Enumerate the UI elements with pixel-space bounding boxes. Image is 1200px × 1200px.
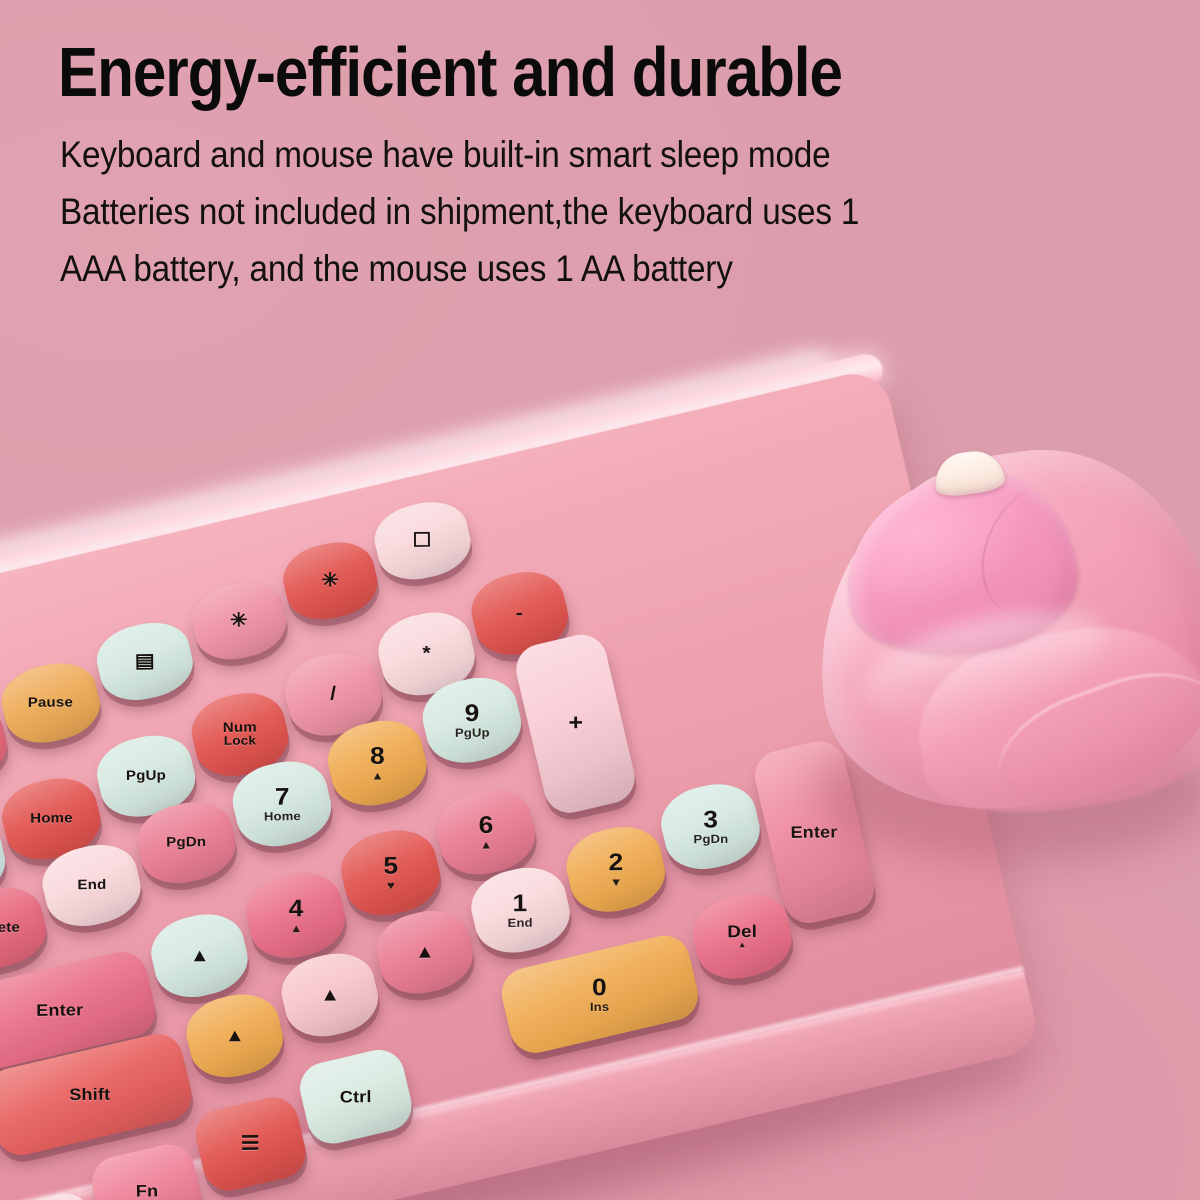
key-label: 8▴ bbox=[370, 744, 385, 782]
key-glyph-icon: ☐ bbox=[413, 531, 432, 551]
key-label: Pause bbox=[28, 696, 73, 711]
key-label: 4▴ bbox=[288, 897, 303, 935]
key-label: End bbox=[77, 878, 106, 892]
key-glyph-icon: ✳ bbox=[321, 571, 339, 591]
key-glyph-icon: ▴ bbox=[419, 942, 430, 962]
keyboard-key[interactable]: ▴ bbox=[275, 945, 385, 1044]
keyboard-key[interactable]: 1End bbox=[464, 859, 576, 961]
key-label: 0Ins bbox=[590, 975, 610, 1013]
key-label: 1End bbox=[508, 891, 534, 929]
mouse bbox=[806, 436, 1200, 866]
key-label: Del▴ bbox=[727, 922, 757, 950]
keyboard-key[interactable]: Ctrl bbox=[295, 1045, 417, 1149]
key-label: Enter bbox=[37, 1001, 84, 1018]
marketing-copy: Energy-efficient and durable Keyboard an… bbox=[58, 34, 1118, 297]
keyboard-key[interactable]: ▴ bbox=[370, 903, 480, 1002]
keyboard-key[interactable]: ✳ bbox=[186, 574, 292, 667]
key-glyph-icon: * bbox=[422, 644, 431, 664]
key-label: 5♥ bbox=[383, 854, 398, 892]
keyboard-key[interactable]: ▴ bbox=[145, 906, 255, 1005]
keyboard-key[interactable]: ▤ bbox=[91, 615, 199, 709]
keyboard-key[interactable]: ✳ bbox=[277, 534, 383, 627]
body-copy: Keyboard and mouse have built-in smart s… bbox=[60, 126, 1118, 297]
key-label: Delete bbox=[0, 921, 20, 936]
body-line-2: Batteries not included in shipment,the k… bbox=[60, 183, 1012, 240]
keyboard-key[interactable]: Pause bbox=[0, 655, 106, 751]
key-label: PgDn bbox=[166, 835, 206, 849]
key-label: 3PgDn bbox=[693, 808, 728, 846]
key-glyph-icon: / bbox=[330, 684, 336, 704]
body-line-3: AAA battery, and the mouse uses 1 AA bat… bbox=[60, 240, 1012, 297]
key-glyph-icon: ✳ bbox=[230, 611, 248, 631]
key-label: 6▴ bbox=[478, 813, 493, 851]
keyboard-key[interactable]: + bbox=[511, 630, 640, 818]
key-glyph-icon: ▴ bbox=[324, 985, 335, 1005]
body-line-1: Keyboard and mouse have built-in smart s… bbox=[60, 126, 1012, 183]
key-glyph-icon: + bbox=[568, 712, 583, 736]
key-label: Fn bbox=[136, 1182, 159, 1199]
product-marketing-image: ⊞⌨PrtScnScrLKPause▤✳✳☐+=BackspaceInsertH… bbox=[0, 0, 1200, 1200]
key-label: PgUp bbox=[126, 769, 166, 783]
keyboard-key[interactable]: Del▴ bbox=[686, 885, 798, 987]
key-glyph-icon: ☰ bbox=[241, 1134, 260, 1154]
keyboard-key[interactable]: 3PgDn bbox=[654, 776, 766, 878]
key-label: 7Home bbox=[263, 785, 300, 823]
keyboard-key[interactable]: 5♥ bbox=[335, 822, 447, 924]
key-label: Shift bbox=[69, 1086, 110, 1103]
key-label: 2▾ bbox=[608, 850, 623, 888]
key-glyph-icon: ▴ bbox=[194, 946, 205, 966]
keyboard-key[interactable]: Alt bbox=[0, 1188, 104, 1200]
keyboard-key[interactable]: ▴ bbox=[180, 986, 290, 1085]
key-label: Home bbox=[30, 812, 73, 827]
key-label: 9PgUp bbox=[454, 701, 489, 739]
keyboard-key[interactable]: ☐ bbox=[368, 494, 476, 588]
key-glyph-icon: ▴ bbox=[229, 1026, 240, 1046]
headline: Energy-efficient and durable bbox=[58, 34, 970, 110]
key-label: NumLock bbox=[223, 721, 257, 748]
key-face-shading bbox=[0, 1188, 104, 1200]
keyboard-key[interactable]: 4▴ bbox=[240, 865, 352, 967]
keyboard-key[interactable]: 2▾ bbox=[560, 818, 672, 920]
key-glyph-icon: ▤ bbox=[135, 651, 155, 671]
key-glyph-icon: - bbox=[516, 604, 523, 624]
keyboard-key[interactable]: Fn bbox=[87, 1139, 207, 1200]
key-label: Ctrl bbox=[340, 1088, 372, 1105]
